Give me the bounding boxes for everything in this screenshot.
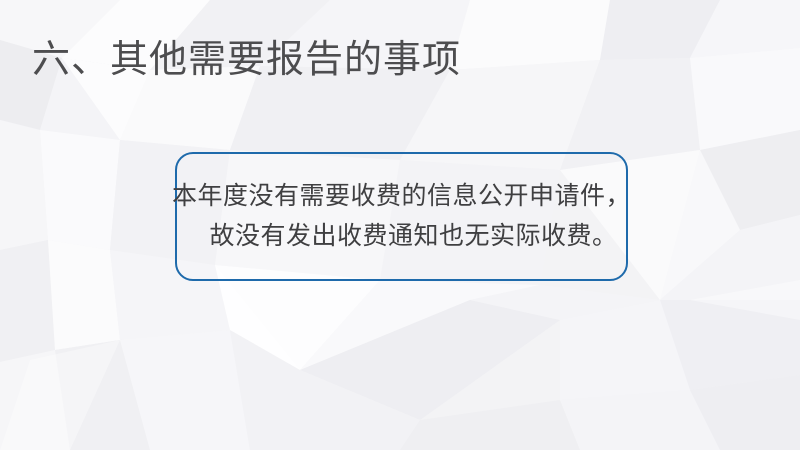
callout-line-1: 本年度没有需要收费的信息公开申请件， — [172, 177, 631, 217]
slide-canvas: 六、其他需要报告的事项 本年度没有需要收费的信息公开申请件， 故没有发出收费通知… — [0, 0, 800, 450]
page-title: 六、其他需要报告的事项 — [32, 36, 461, 84]
callout-text-block: 本年度没有需要收费的信息公开申请件， 故没有发出收费通知也无实际收费。 — [177, 154, 626, 279]
callout-box: 本年度没有需要收费的信息公开申请件， 故没有发出收费通知也无实际收费。 — [175, 152, 628, 281]
callout-line-2: 故没有发出收费通知也无实际收费。 — [186, 217, 618, 257]
